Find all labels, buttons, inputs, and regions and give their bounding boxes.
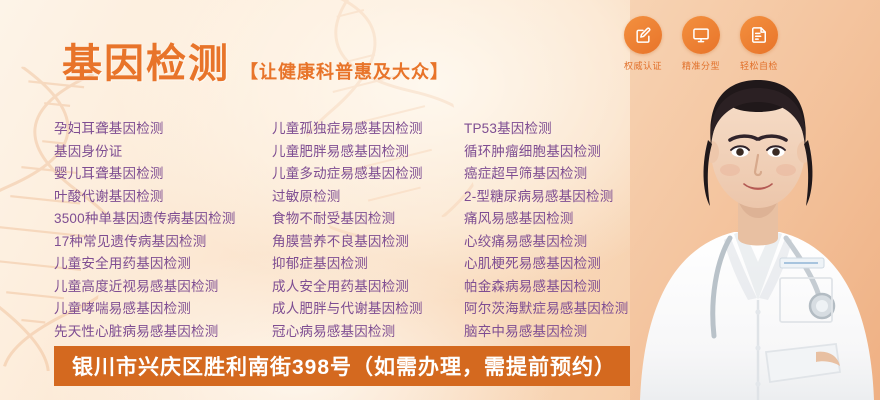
address-bar: 银川市兴庆区胜利南街398号（如需办理，需提前预约） (54, 346, 652, 386)
list-item[interactable]: 抑郁症基因检测 (272, 253, 464, 276)
feature-label-typing: 精准分型 (682, 59, 720, 72)
list-item[interactable]: 儿童多动症易感基因检测 (272, 163, 464, 186)
list-item[interactable]: 儿童肥胖易感基因检测 (272, 141, 464, 164)
list-item[interactable]: 儿童哮喘易感基因检测 (54, 298, 272, 321)
list-item[interactable]: 基因身份证 (54, 141, 272, 164)
page-title: 基因检测 (62, 44, 230, 84)
edit-square-icon (624, 16, 662, 54)
service-list-column-2: 儿童孤独症易感基因检测 儿童肥胖易感基因检测 儿童多动症易感基因检测 过敏原检测… (272, 118, 464, 343)
feature-badge-selftest[interactable]: 轻松自检 (736, 16, 782, 72)
list-item[interactable]: 孕妇耳聋基因检测 (54, 118, 272, 141)
address-text: 银川市兴庆区胜利南街398号（如需办理，需提前预约） (72, 351, 616, 381)
feature-label-selftest: 轻松自检 (740, 59, 778, 72)
monitor-icon (682, 16, 720, 54)
list-item[interactable]: 儿童孤独症易感基因检测 (272, 118, 464, 141)
page-subtitle: 【让健康科普惠及大众】 (240, 63, 449, 84)
list-item[interactable]: 过敏原检测 (272, 186, 464, 209)
genetic-testing-banner: 基因检测 【让健康科普惠及大众】 权威认证 精准分型 (0, 0, 880, 400)
list-item[interactable]: 先天性心脏病易感基因检测 (54, 321, 272, 344)
service-list-columns: 孕妇耳聋基因检测 基因身份证 婴儿耳聋基因检测 叶酸代谢基因检测 3500种单基… (54, 118, 694, 343)
list-item[interactable]: 食物不耐受基因检测 (272, 208, 464, 231)
list-item[interactable]: 叶酸代谢基因检测 (54, 186, 272, 209)
list-item[interactable]: 冠心病易感基因检测 (272, 321, 464, 344)
service-list-column-1: 孕妇耳聋基因检测 基因身份证 婴儿耳聋基因检测 叶酸代谢基因检测 3500种单基… (54, 118, 272, 343)
feature-label-authority: 权威认证 (624, 59, 662, 72)
list-item[interactable]: 儿童安全用药基因检测 (54, 253, 272, 276)
list-item[interactable]: 婴儿耳聋基因检测 (54, 163, 272, 186)
feature-badge-authority[interactable]: 权威认证 (620, 16, 666, 72)
list-item[interactable]: 17种常见遗传病基因检测 (54, 231, 272, 254)
feature-badge-typing[interactable]: 精准分型 (678, 16, 724, 72)
list-item[interactable]: 成人安全用药基因检测 (272, 276, 464, 299)
feature-badges: 权威认证 精准分型 轻松自检 (620, 16, 782, 72)
list-item[interactable]: 成人肥胖与代谢基因检测 (272, 298, 464, 321)
document-icon (740, 16, 778, 54)
list-item[interactable]: 角膜营养不良基因检测 (272, 231, 464, 254)
headline-group: 基因检测 【让健康科普惠及大众】 (62, 44, 449, 84)
list-item[interactable]: 儿童高度近视易感基因检测 (54, 276, 272, 299)
list-item[interactable]: 3500种单基因遗传病基因检测 (54, 208, 272, 231)
